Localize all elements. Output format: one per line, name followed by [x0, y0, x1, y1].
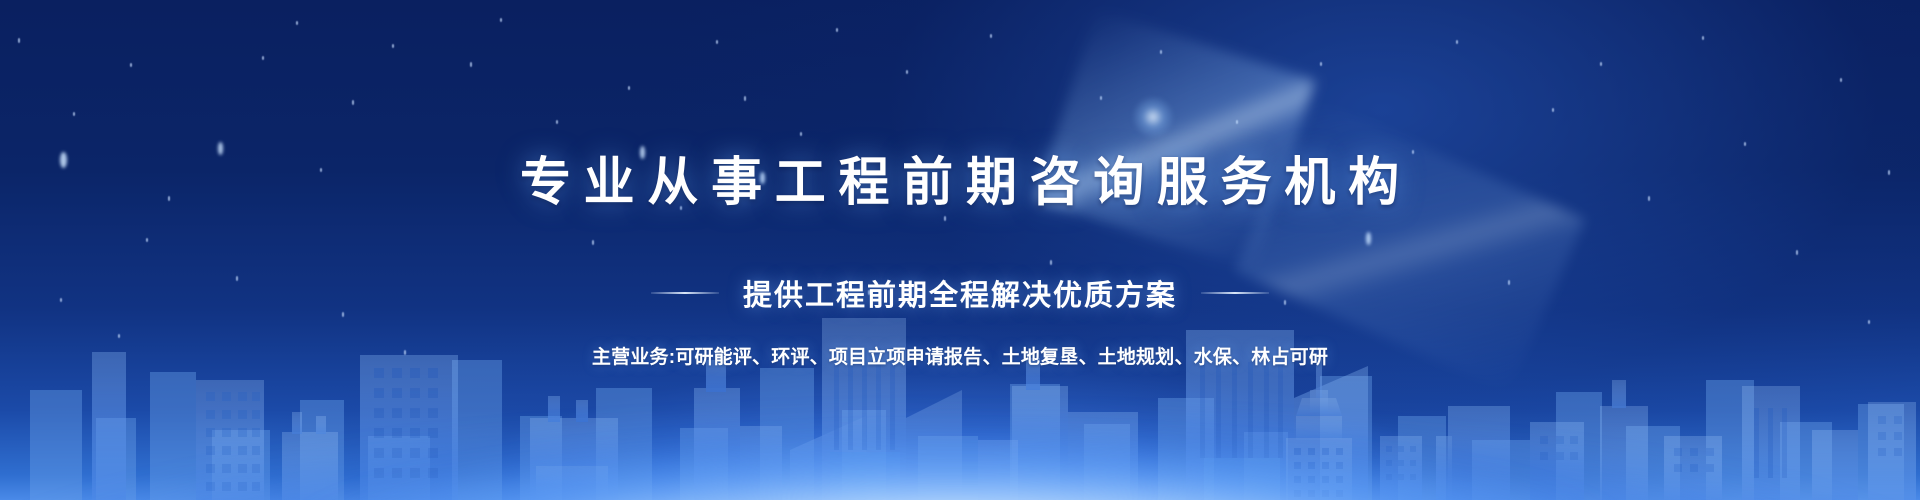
banner-services-line: 主营业务:可研能评、环评、项目立项申请报告、土地复垦、土地规划、水保、林占可研: [592, 342, 1328, 369]
right-dash-icon: [1201, 292, 1269, 294]
banner-subtitle: 提供工程前期全程解决优质方案: [743, 272, 1177, 314]
banner-subtitle-row: 提供工程前期全程解决优质方案: [651, 272, 1269, 314]
banner-content: 专业从事工程前期咨询服务机构 提供工程前期全程解决优质方案 主营业务:可研能评、…: [0, 0, 1920, 500]
hero-banner: 专业从事工程前期咨询服务机构 提供工程前期全程解决优质方案 主营业务:可研能评、…: [0, 0, 1920, 500]
banner-headline: 专业从事工程前期咨询服务机构: [508, 157, 1413, 209]
left-dash-icon: [651, 292, 719, 294]
